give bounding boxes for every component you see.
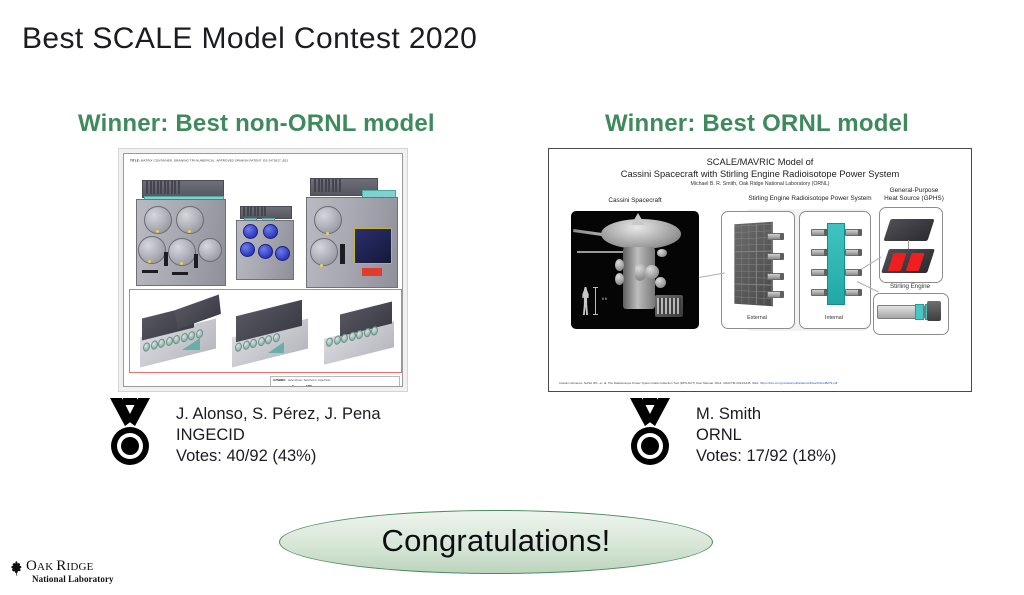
cask-port-blue bbox=[263, 224, 278, 239]
footnote-text: Cassini reference: NASA JPL, et. al. The… bbox=[559, 381, 759, 385]
cad-cask-right bbox=[306, 178, 396, 286]
congratulations-banner: Congratulations! bbox=[279, 510, 713, 574]
cask-port-blue bbox=[258, 244, 273, 259]
cad-slab-detail bbox=[232, 302, 318, 364]
stirling-engine-pin bbox=[811, 269, 826, 276]
cassini-render: 6 ft bbox=[571, 211, 699, 329]
ornl-logo: OAK RIDGE National Laboratory bbox=[8, 558, 126, 590]
cassini-tank bbox=[615, 273, 624, 285]
stirling-engine-pin bbox=[811, 289, 826, 296]
ingecid-logo: ingeciD bbox=[292, 385, 312, 387]
right-medal-icon bbox=[624, 396, 676, 468]
gphs-fuel-pellet bbox=[906, 262, 922, 271]
stirling-engine-pin bbox=[845, 249, 860, 256]
cask-red-chip bbox=[362, 268, 382, 276]
cassini-tank bbox=[655, 277, 666, 288]
engine-head bbox=[927, 301, 941, 321]
gphs-fuel-pellet bbox=[888, 262, 904, 271]
right-poster-footnote: Cassini reference: NASA JPL, et. al. The… bbox=[559, 381, 961, 385]
stirling-engine-pin bbox=[811, 229, 826, 236]
ornl-logo-line1: OAK RIDGE bbox=[26, 558, 94, 575]
right-winner-info: M. Smith ORNL Votes: 17/92 (18%) bbox=[696, 404, 836, 467]
cassini-tank bbox=[657, 249, 667, 257]
cask-fins bbox=[146, 181, 218, 194]
cad-cask-middle bbox=[236, 206, 292, 278]
human-scale-figure bbox=[581, 287, 590, 315]
cask-marker bbox=[148, 260, 151, 263]
scale-bar-label: 6 ft bbox=[602, 297, 607, 301]
left-winner-authors: J. Alonso, S. Pérez, J. Pena bbox=[176, 404, 381, 425]
slide-canvas: Best SCALE Model Contest 2020 Winner: Be… bbox=[0, 0, 1024, 595]
gphs-render bbox=[879, 207, 941, 281]
cask-marker bbox=[180, 262, 183, 265]
ornl-idge: IDGE bbox=[67, 561, 94, 573]
cad-slab-detail bbox=[140, 302, 226, 364]
cask-slot bbox=[142, 270, 158, 273]
footnote-link[interactable]: https://info.ornl.gov/sites/publications… bbox=[760, 381, 837, 385]
cask-port bbox=[138, 236, 166, 264]
cask-port-blue bbox=[275, 246, 290, 261]
right-winner-heading: Winner: Best ORNL model bbox=[605, 110, 909, 138]
gphs-fuel-pellet bbox=[909, 253, 925, 262]
cassini-boom bbox=[577, 251, 625, 253]
stirling-engine-pin bbox=[845, 229, 860, 236]
label-cassini: Cassini Spacecraft bbox=[571, 197, 699, 205]
cask-fins bbox=[243, 207, 287, 216]
scale-bar bbox=[595, 287, 596, 315]
ornl-o: O bbox=[26, 558, 37, 574]
right-poster-title-line1: SCALE/MAVRIC Model of bbox=[549, 156, 971, 168]
cassini-rtg bbox=[655, 295, 683, 317]
stirling-engine-pin bbox=[767, 291, 782, 298]
cask-slot bbox=[194, 254, 198, 268]
stirling-engine-render bbox=[871, 291, 949, 337]
stirling-engine-pin bbox=[845, 289, 860, 296]
left-winner-affiliation: INGECID bbox=[176, 425, 381, 446]
cassini-tank bbox=[615, 259, 624, 271]
congratulations-text: Congratulations! bbox=[382, 523, 611, 559]
stirling-engine-pin bbox=[811, 249, 826, 256]
ornl-logo-line2: National Laboratory bbox=[32, 574, 114, 584]
cask-marker bbox=[188, 230, 191, 233]
label-stirling-engine: Stirling Engine bbox=[871, 283, 949, 290]
left-winner-heading: Winner: Best non-ORNL model bbox=[78, 110, 435, 138]
oak-leaf-icon bbox=[8, 560, 25, 582]
cask-port-blue bbox=[243, 224, 258, 239]
left-winner-info: J. Alonso, S. Pérez, J. Pena INGECID Vot… bbox=[176, 404, 381, 467]
cassini-tank bbox=[635, 263, 645, 281]
left-poster-caption-text: MATRIX CONTAINER. DRAWING TRI-NUMERICAL.… bbox=[141, 159, 288, 162]
cassini-antenna-feed bbox=[631, 213, 645, 225]
left-medal-icon bbox=[104, 396, 156, 468]
gphs-fuel-block bbox=[881, 249, 935, 273]
left-poster-inner: TITLE: MATRIX CONTAINER. DRAWING TRI-NUM… bbox=[123, 153, 403, 387]
gphs-fuel-pellet bbox=[891, 253, 907, 262]
left-winner-votes: Votes: 40/92 (43%) bbox=[176, 446, 381, 467]
cask-marker bbox=[156, 230, 159, 233]
gphs-aeroshell bbox=[883, 219, 934, 241]
cask-slot bbox=[172, 272, 188, 275]
cask-slot bbox=[340, 244, 345, 264]
ornl-ak: AK bbox=[37, 561, 56, 573]
right-winner-votes: Votes: 17/92 (18%) bbox=[696, 446, 836, 467]
cask-slot bbox=[164, 252, 168, 266]
label-internal: Internal bbox=[799, 315, 869, 321]
left-poster-caption-label: TITLE: bbox=[130, 159, 140, 162]
label-external: External bbox=[721, 315, 793, 321]
engine-teal-section bbox=[915, 304, 924, 320]
right-poster-title-line2: Cassini Spacecraft with Stirling Engine … bbox=[549, 168, 971, 180]
right-winner-affiliation: ORNL bbox=[696, 425, 836, 446]
rps-internal-core bbox=[827, 223, 845, 305]
label-gphs-line2: Heat Source (GPHS) bbox=[875, 195, 953, 203]
cask-port bbox=[314, 206, 342, 234]
cask-marker bbox=[320, 264, 323, 267]
stirling-engine-pin bbox=[767, 273, 782, 280]
label-gphs-line1: General-Purpose bbox=[875, 187, 953, 195]
left-poster-caption: TITLE: MATRIX CONTAINER. DRAWING TRI-NUM… bbox=[130, 159, 288, 162]
cad-footer-authors-row: AUTHORS: Javier Alonso / Sara Pérez / Jo… bbox=[273, 379, 397, 382]
cask-marker bbox=[326, 232, 329, 235]
cask-port bbox=[198, 238, 222, 262]
stirling-engine-pin bbox=[845, 269, 860, 276]
stirling-engine-pin bbox=[767, 253, 782, 260]
label-gphs: General-Purpose Heat Source (GPHS) bbox=[875, 187, 953, 203]
left-poster-image[interactable]: TITLE: MATRIX CONTAINER. DRAWING TRI-NUM… bbox=[118, 148, 408, 392]
cad-authors-value: Javier Alonso / Sara Pérez / Jorge Peña bbox=[288, 379, 330, 382]
page-title: Best SCALE Model Contest 2020 bbox=[22, 22, 477, 56]
cad-highlight-box bbox=[129, 289, 402, 373]
right-poster-title: SCALE/MAVRIC Model of Cassini Spacecraft… bbox=[549, 156, 971, 180]
cask-port bbox=[310, 238, 338, 266]
cask-port-blue bbox=[240, 242, 255, 257]
cad-authors-label: AUTHORS: bbox=[273, 379, 286, 382]
stirling-engine-pin bbox=[767, 233, 782, 240]
cad-footer: AUTHORS: Javier Alonso / Sara Pérez / Jo… bbox=[270, 376, 400, 387]
cask-cutaway-panel bbox=[354, 228, 392, 264]
cad-slab-detail bbox=[324, 302, 400, 364]
cad-footer-affiliation-row: AFFILIATION: ingeciD SCALE VERSION: 6.2.… bbox=[273, 385, 397, 387]
right-winner-authors: M. Smith bbox=[696, 404, 836, 425]
cad-cask-left bbox=[136, 180, 224, 284]
right-poster-image[interactable]: SCALE/MAVRIC Model of Cassini Spacecraft… bbox=[548, 148, 972, 392]
ornl-r: R bbox=[56, 558, 66, 574]
